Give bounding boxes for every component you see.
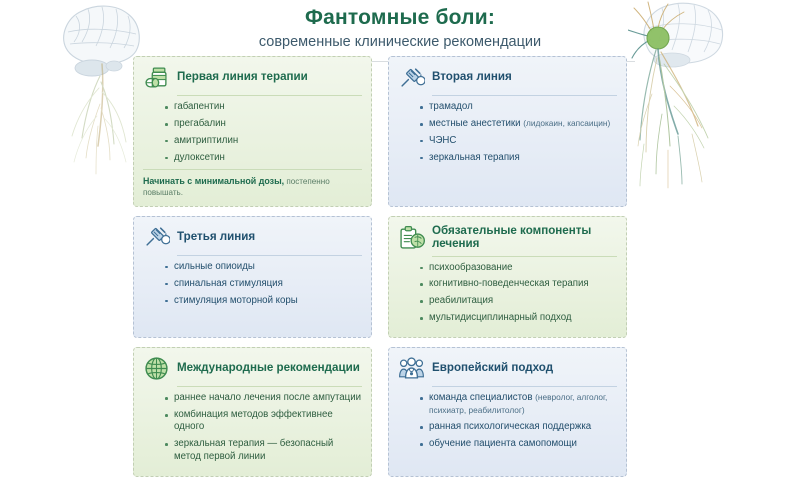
card-divider: [177, 95, 362, 96]
list-item: местные анестетики (лидокаин, капсаицин): [420, 118, 617, 130]
globe-icon: [143, 356, 170, 381]
card-divider: [432, 256, 617, 257]
list-item: ранная психологическая поддержка: [420, 421, 617, 433]
card-second-line: Вторая линиятрамадолместные анестетики (…: [388, 56, 627, 207]
list-item-label: реабилитация: [429, 295, 493, 306]
list-item-label: зеркальная терапия — безопасный метод пе…: [174, 438, 333, 461]
list-item: амитриптилин: [165, 135, 362, 147]
card-divider: [432, 386, 617, 387]
card-divider: [177, 255, 362, 256]
list-item-label: амитриптилин: [174, 135, 238, 146]
card-header: Обязательные компоненты лечения: [398, 224, 617, 251]
card-title: Вторая линия: [432, 70, 512, 83]
medical-team-icon: [398, 356, 425, 381]
list-item: мультидисциплинарный подход: [420, 312, 617, 324]
card-header: Европейский подход: [398, 355, 617, 381]
list-item: когнитивно-поведенческая терапия: [420, 278, 617, 290]
list-item-label: зеркальная терапия: [429, 152, 520, 163]
card-bullet-list: команда специалистов (невролог, алголог,…: [398, 392, 617, 455]
card-mandatory-components: Обязательные компоненты леченияпсихообра…: [388, 216, 627, 338]
card-note: Начинать с минимальной дозы, постепенно …: [143, 169, 362, 198]
list-item-label: психообразование: [429, 262, 513, 273]
list-item-label: дулоксетин: [174, 152, 225, 163]
syringe-icon: [398, 65, 425, 90]
list-item: прегабалин: [165, 118, 362, 130]
list-item: комбинация методов эффективнее одного: [165, 409, 362, 434]
list-item: сильные опиоиды: [165, 261, 362, 273]
card-divider: [432, 95, 617, 96]
card-note-emphasis: Начинать с минимальной дозы,: [143, 176, 284, 186]
list-item: спинальная стимуляция: [165, 278, 362, 290]
list-item: дулоксетин: [165, 152, 362, 164]
list-item: обучение пациента самопомощи: [420, 438, 617, 450]
list-item-label: раннее начало лечения после ампутации: [174, 392, 361, 403]
syringe-icon: [143, 224, 170, 249]
card-title: Обязательные компоненты лечения: [432, 224, 617, 251]
card-header: Первая линия терапии: [143, 64, 362, 90]
card-title: Третья линия: [177, 230, 255, 243]
list-item-label: прегабалин: [174, 118, 226, 129]
list-item-label: местные анестетики: [429, 118, 523, 129]
list-item: зеркальная терапия: [420, 152, 617, 164]
list-item: трамадол: [420, 101, 617, 113]
card-divider: [177, 386, 362, 387]
page-title: Фантомные боли:: [0, 6, 800, 30]
card-bullet-list: психообразованиекогнитивно-поведенческая…: [398, 262, 617, 330]
list-item-label: когнитивно-поведенческая терапия: [429, 278, 589, 289]
card-title: Международные рекомендации: [177, 361, 360, 374]
list-item: ЧЭНС: [420, 135, 617, 147]
page-subtitle: современные клинические рекомендации: [0, 34, 800, 51]
list-item: стимуляция моторной коры: [165, 295, 362, 307]
list-item-label: ранная психологическая поддержка: [429, 421, 591, 432]
list-item: раннее начало лечения после ампутации: [165, 392, 362, 404]
list-item: габапентин: [165, 101, 362, 113]
card-header: Третья линия: [143, 224, 362, 250]
list-item-label: обучение пациента самопомощи: [429, 438, 577, 449]
list-item-detail: (лидокаин, капсаицин): [523, 118, 610, 128]
card-header: Вторая линия: [398, 64, 617, 90]
card-title: Европейский подход: [432, 361, 553, 374]
list-item: команда специалистов (невролог, алголог,…: [420, 392, 617, 417]
list-item-label: трамадол: [429, 101, 473, 112]
card-international-guidelines: Международные рекомендациираннее начало …: [133, 347, 372, 477]
list-item-label: стимуляция моторной коры: [174, 295, 298, 306]
card-third-line: Третья линиясильные опиоидыспинальная ст…: [133, 216, 372, 338]
list-item-label: команда специалистов: [429, 392, 535, 403]
card-european-approach: Европейский подходкоманда специалистов (…: [388, 347, 627, 477]
page-header: Фантомные боли: современные клинические …: [0, 0, 800, 62]
list-item-label: спинальная стимуляция: [174, 278, 283, 289]
card-bullet-list: трамадолместные анестетики (лидокаин, ка…: [398, 101, 617, 169]
clipboard-brain-icon: [398, 225, 425, 250]
list-item-label: ЧЭНС: [429, 135, 456, 146]
list-item-label: комбинация методов эффективнее одного: [174, 409, 333, 432]
list-item-label: мультидисциплинарный подход: [429, 312, 572, 323]
card-title: Первая линия терапии: [177, 70, 308, 83]
card-bullet-list: сильные опиоидыспинальная стимуляциястим…: [143, 261, 362, 312]
card-bullet-list: габапентинпрегабалинамитриптилиндулоксет…: [143, 101, 362, 169]
card-bullet-list: раннее начало лечения после ампутацииком…: [143, 392, 362, 468]
list-item: зеркальная терапия — безопасный метод пе…: [165, 438, 362, 463]
list-item: психообразование: [420, 262, 617, 274]
card-first-line-therapy: Первая линия терапиигабапентинпрегабалин…: [133, 56, 372, 207]
list-item: реабилитация: [420, 295, 617, 307]
recommendation-card-grid: Первая линия терапиигабапентинпрегабалин…: [133, 56, 667, 477]
card-header: Международные рекомендации: [143, 355, 362, 381]
pill-bottle-icon: [143, 65, 170, 90]
list-item-label: сильные опиоиды: [174, 261, 255, 272]
list-item-label: габапентин: [174, 101, 225, 112]
